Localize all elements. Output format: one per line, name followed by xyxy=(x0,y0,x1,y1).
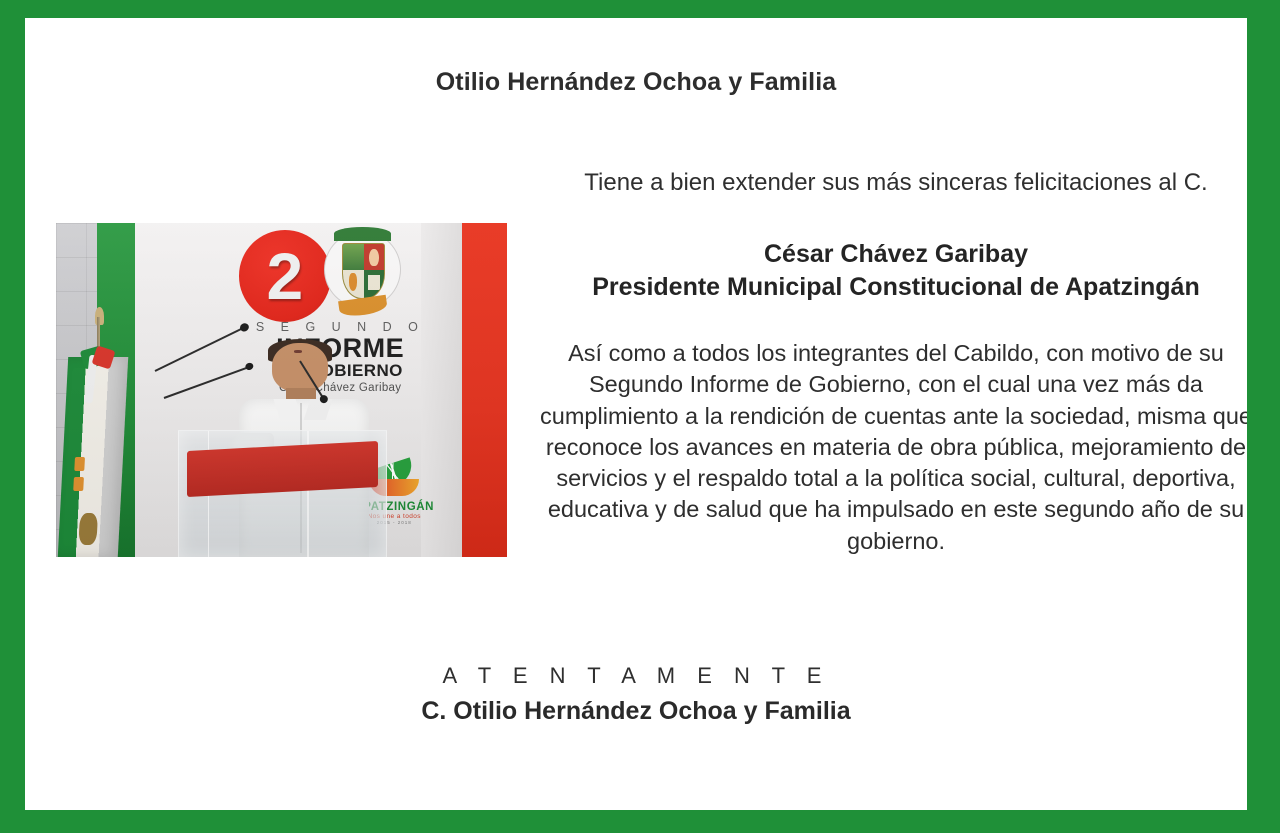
badge-two-circle: 2 xyxy=(239,230,331,322)
crest-quadrant-3 xyxy=(343,270,364,298)
page-title: Otilio Hernández Ochoa y Familia xyxy=(25,68,1247,97)
honoree-title: Presidente Municipal Constitucional de A… xyxy=(535,271,1247,304)
signer-name: C. Otilio Hernández Ochoa y Familia xyxy=(25,697,1247,726)
invitation-card: Otilio Hernández Ochoa y Familia 2 xyxy=(0,0,1280,833)
letter-paragraph: Así como a todos los integrantes del Cab… xyxy=(535,338,1247,557)
letter-lead-line: Tiene a bien extender sus más sinceras f… xyxy=(535,168,1247,198)
speaker-mouth xyxy=(294,350,302,352)
photo-canvas: 2 S E G U N D O INFORME xyxy=(56,223,507,557)
event-photo: 2 S E G U N D O INFORME xyxy=(56,223,507,557)
mexican-flag xyxy=(63,317,144,557)
banner-kicker: S E G U N D O xyxy=(218,320,462,334)
card-inner-surface: Otilio Hernández Ochoa y Familia 2 xyxy=(25,18,1247,810)
podium-red-panel xyxy=(187,441,378,497)
closing-salutation: A T E N T A M E N T E xyxy=(25,663,1247,689)
crest-quadrant-2 xyxy=(364,244,385,270)
crest-quadrant-1 xyxy=(343,244,364,270)
coat-of-arms-icon xyxy=(324,231,400,308)
speaker-head xyxy=(272,343,329,392)
flag-gold-detail-1 xyxy=(74,457,84,471)
crest-top-ornament xyxy=(334,227,391,241)
glass-podium xyxy=(178,430,387,557)
crest-shield xyxy=(342,243,386,299)
letter-footer: A T E N T A M E N T E C. Otilio Hernánde… xyxy=(25,663,1247,726)
letter-body: Tiene a bien extender sus más sinceras f… xyxy=(535,168,1247,557)
honoree-name: César Chávez Garibay xyxy=(535,238,1247,271)
flag-gold-detail-2 xyxy=(73,477,83,491)
crest-quadrant-4 xyxy=(364,270,385,298)
flag-eagle-emblem xyxy=(79,513,99,545)
badge-number-label: 2 xyxy=(239,230,331,322)
honoree-block: César Chávez Garibay Presidente Municipa… xyxy=(535,238,1247,304)
backdrop-red-stripe xyxy=(462,223,507,557)
